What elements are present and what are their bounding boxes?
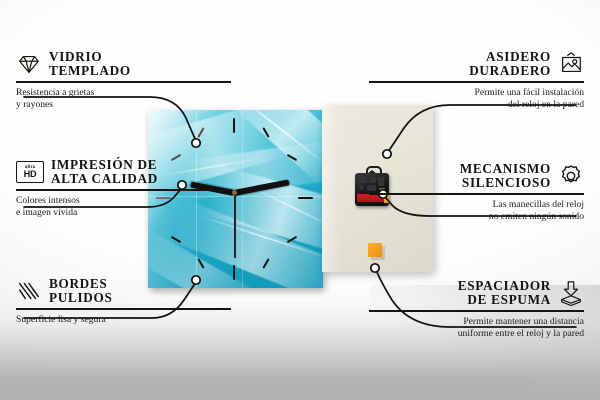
picture-hanger-icon xyxy=(558,51,584,77)
feature-divider xyxy=(369,81,584,83)
gear-icon xyxy=(558,163,584,189)
feature-bordes-pulidos: BORDES PULIDOS Superficie lisa y segura xyxy=(16,277,231,326)
feature-divider xyxy=(16,308,231,310)
feature-description: Permite una fácil instalación del reloj … xyxy=(369,87,584,112)
feature-title-line1: BORDES xyxy=(49,277,113,291)
feature-title-line2: PULIDOS xyxy=(49,291,113,305)
feature-divider xyxy=(16,189,231,191)
feature-title-line2: TEMPLADO xyxy=(49,64,131,78)
feature-divider xyxy=(369,310,584,312)
feature-title-line1: ASIDERO xyxy=(469,50,551,64)
feature-vidrio-templado: VIDRIO TEMPLADO Resistencia a grietas y … xyxy=(16,50,231,111)
feature-title-line2: SILENCIOSO xyxy=(460,176,551,190)
feature-title-line1: VIDRIO xyxy=(49,50,131,64)
feature-description: Las manecillas del reloj no emiten ningú… xyxy=(369,199,584,224)
foam-spacer-icon xyxy=(558,280,584,306)
feature-title-line1: ESPACIADOR xyxy=(458,279,551,293)
wire-endpoint-asidero xyxy=(383,150,391,158)
feature-impresion-alta-calidad: ultra HD IMPRESIÓN DE ALTA CALIDAD Color… xyxy=(16,158,231,219)
feature-title-line1: MECANISMO xyxy=(460,162,551,176)
feature-asidero-duradero: ASIDERO DURADERO Permite una fácil insta… xyxy=(369,50,584,111)
feature-description: Colores intensos e imagen vívida xyxy=(16,195,231,220)
feature-mecanismo-silencioso: MECANISMO SILENCIOSO Las manecillas del … xyxy=(369,162,584,223)
feature-title-line2: DE ESPUMA xyxy=(458,293,551,307)
feature-title-line2: ALTA CALIDAD xyxy=(51,172,158,186)
feature-title-line2: DURADERO xyxy=(469,64,551,78)
ultra-hd-icon: ultra HD xyxy=(16,161,44,183)
wire-asidero xyxy=(388,105,576,152)
ultra-hd-icon-main-text: HD xyxy=(24,170,37,179)
feature-description: Permite mantener una distancia uniforme … xyxy=(369,316,584,341)
feature-title-line1: IMPRESIÓN DE xyxy=(51,158,158,172)
feature-description: Resistencia a grietas y rayones xyxy=(16,87,231,112)
feature-divider xyxy=(369,193,584,195)
diamond-icon xyxy=(16,51,42,77)
infographic-canvas: VIDRIO TEMPLADO Resistencia a grietas y … xyxy=(0,0,600,400)
wire-endpoint-espaciador xyxy=(371,264,379,272)
feature-description: Superficie lisa y segura xyxy=(16,314,231,326)
feature-espaciador-espuma: ESPACIADOR DE ESPUMA Permite mantener un… xyxy=(369,279,584,340)
polished-edges-icon xyxy=(16,278,42,304)
wire-endpoint-vidrio xyxy=(192,139,200,147)
feature-divider xyxy=(16,81,231,83)
